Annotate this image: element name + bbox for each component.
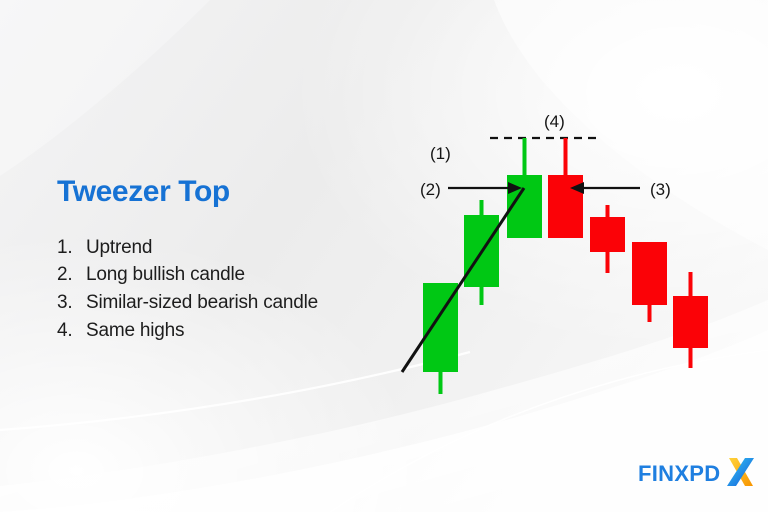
list-item-label: Long bullish candle — [86, 261, 387, 289]
candle-wick — [564, 138, 568, 176]
list-item: 4. Same highs — [57, 317, 387, 345]
candle-wick — [523, 138, 527, 176]
list-item-number: 2. — [57, 261, 86, 289]
list-item-number: 1. — [57, 234, 86, 262]
page-title: Tweezer Top — [57, 176, 387, 208]
list-item: 1. Uptrend — [57, 234, 387, 262]
candle-wick — [439, 372, 443, 394]
list-item-number: 3. — [57, 289, 86, 317]
text-panel: Tweezer Top 1. Uptrend 2. Long bullish c… — [57, 176, 387, 345]
candle-5-bearish — [590, 205, 625, 273]
candle-body — [590, 217, 625, 252]
slide-canvas: Tweezer Top 1. Uptrend 2. Long bullish c… — [0, 0, 768, 512]
logo-wordmark: FINXPD — [638, 463, 720, 485]
candle-body — [548, 175, 583, 238]
annotation-3-arrow — [570, 182, 640, 194]
list-item-label: Similar-sized bearish candle — [86, 289, 387, 317]
list-item: 3. Similar-sized bearish candle — [57, 289, 387, 317]
list-item-label: Uptrend — [86, 234, 387, 262]
list-item: 2. Long bullish candle — [57, 261, 387, 289]
annotation-2-arrow — [448, 182, 522, 194]
annotation-label-1: (1) — [430, 144, 451, 163]
candle-body — [632, 242, 667, 305]
feature-list: 1. Uptrend 2. Long bullish candle 3. Sim… — [57, 234, 387, 346]
annotation-label-2: (2) — [420, 180, 441, 199]
uptrend-line — [402, 188, 524, 372]
candle-wick — [480, 285, 484, 305]
candle-1-bullish — [423, 283, 458, 394]
list-item-label: Same highs — [86, 317, 387, 345]
candle-6-bearish — [632, 242, 667, 322]
brand-logo: FINXPD — [638, 459, 757, 489]
list-item-number: 4. — [57, 317, 86, 345]
annotation-label-3: (3) — [650, 180, 671, 199]
candlestick-chart: (1) (2) (3) (4) — [400, 100, 740, 420]
logo-x-icon — [723, 455, 757, 489]
candle-body — [673, 296, 708, 348]
annotation-label-4: (4) — [544, 112, 565, 131]
candle-7-bearish — [673, 272, 708, 368]
